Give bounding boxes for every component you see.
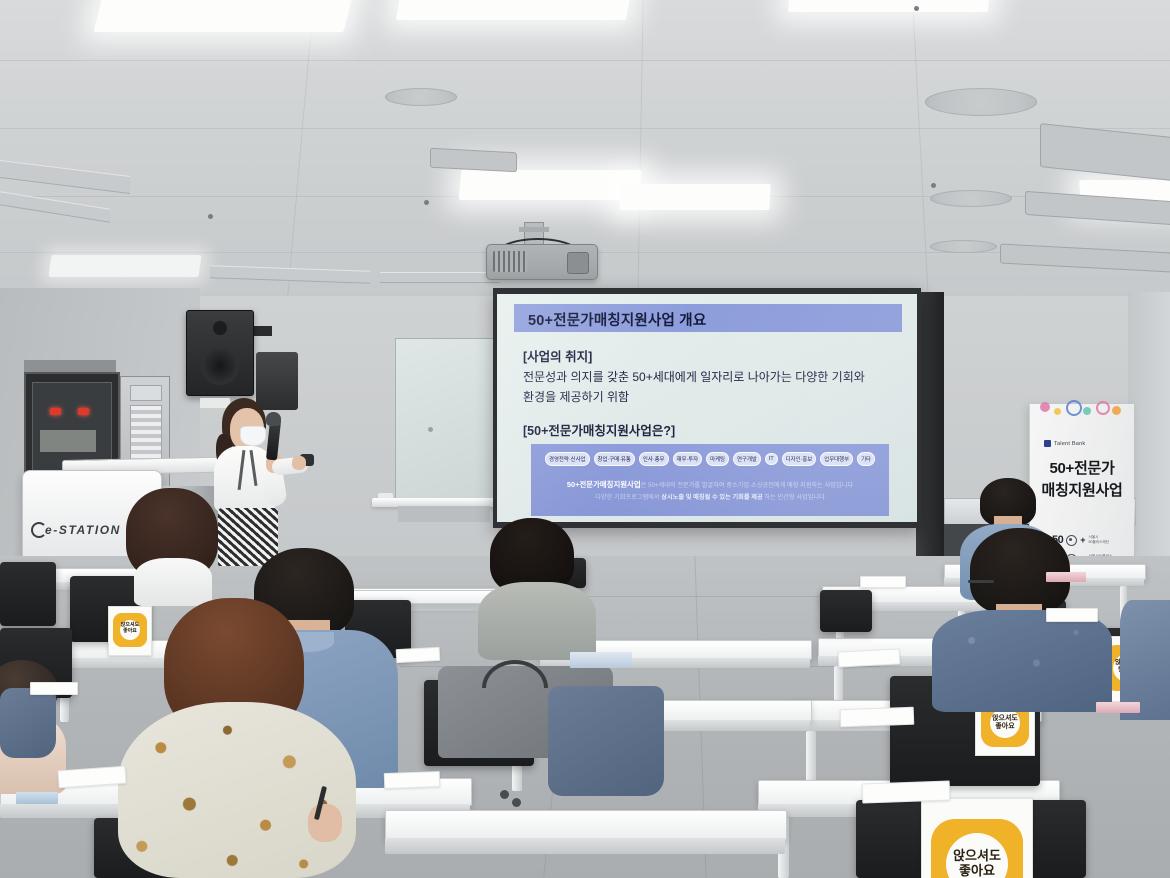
whiteboard-tray-shadow xyxy=(398,506,490,522)
banner-logo-text: Talent Bank xyxy=(1054,441,1085,447)
presentation-slide: 50+전문가매칭지원사업 개요 [사업의 취지] 전문성과 의지를 갖춘 50+… xyxy=(497,294,917,522)
torso xyxy=(478,582,596,660)
chair-sign-line-1: 앉으셔도 xyxy=(953,848,1001,863)
slide-section-1-heading: [사업의 취지] xyxy=(523,346,592,365)
electrical-panel-top xyxy=(24,360,116,372)
ceiling-light-panel xyxy=(459,170,642,200)
speaker-tweeter xyxy=(213,321,227,335)
ceiling-light-panel xyxy=(396,0,634,20)
slide-section-1-line-2: 환경을 제공하기 위함 xyxy=(523,388,903,407)
ceiling-light-panel xyxy=(619,184,770,210)
panel-label xyxy=(40,430,96,452)
power-led xyxy=(50,408,61,415)
chair-sign-text: 앉으셔도 좋아요 xyxy=(922,849,1032,878)
slide-tag: 연구개발 xyxy=(733,452,761,466)
ceiling-diffuser xyxy=(930,190,1012,207)
booklet xyxy=(1046,572,1086,582)
slide-tag: 마케팅 xyxy=(706,452,729,466)
chair-sign: 앉으셔도 좋아요 xyxy=(921,798,1033,878)
desk-caster xyxy=(512,798,521,807)
audience-member xyxy=(112,598,362,878)
slide-tag-row: 경영전략·신사업 창업·구매·유통 인사·총무 재무·투자 마케팅 연구개발 I… xyxy=(539,452,881,466)
desk-caster xyxy=(500,790,509,799)
slide-tag: 재무·투자 xyxy=(673,452,703,466)
ceiling-light-panel xyxy=(788,0,992,12)
ceiling-diffuser xyxy=(930,240,997,253)
slide-note-line-2-pre: 다양한 기회프로그램에서 xyxy=(595,494,659,501)
talent-bank-mark-icon xyxy=(1044,440,1051,447)
booklet xyxy=(16,792,58,804)
chair-sign-line-1: 앉으셔도 xyxy=(992,715,1018,722)
papers xyxy=(396,647,441,663)
chair-sign-line-2: 좋아요 xyxy=(995,723,1014,730)
papers xyxy=(862,780,951,803)
booklet xyxy=(570,652,632,668)
hand xyxy=(308,804,342,842)
slide-tag: 기타 xyxy=(857,452,875,466)
slide-tag-box: 경영전략·신사업 창업·구매·유통 인사·총무 재무·투자 마케팅 연구개발 I… xyxy=(531,444,889,516)
ceiling-diffuser xyxy=(925,88,1037,116)
papers xyxy=(840,707,915,728)
desk-edge xyxy=(385,838,785,854)
papers xyxy=(30,682,78,695)
papers xyxy=(384,771,441,789)
slide-tag: 업무대행부 xyxy=(820,452,853,466)
breaker-display xyxy=(130,385,162,401)
ceiling-air-vent xyxy=(1000,243,1170,272)
banner-decoration xyxy=(1036,398,1128,428)
folded-jacket xyxy=(0,688,56,758)
slide-note-bold: 50+전문가매칭지원사업 xyxy=(567,480,641,489)
whiteboard xyxy=(395,338,502,500)
ceiling-air-vent xyxy=(1040,123,1170,181)
papers xyxy=(838,648,901,667)
whiteboard-knob xyxy=(428,427,433,432)
slide-note-highlight: 상시노출 및 매칭될 수 있는 기회를 제공 xyxy=(661,494,762,501)
chair[interactable] xyxy=(820,590,872,632)
torso xyxy=(932,610,1112,712)
folded-jacket xyxy=(548,686,664,796)
slide-note-line-1: 은 50+세대의 전문가를 발굴하여 중소기업·소상공인에게 매칭 지원하는 사… xyxy=(641,482,853,489)
slide-note: 50+전문가매칭지원사업은 50+세대의 전문가를 발굴하여 중소기업·소상공인… xyxy=(541,478,879,504)
slide-tag: 경영전략·신사업 xyxy=(545,452,590,466)
sprinkler-head xyxy=(208,214,213,219)
ceiling-light-panel xyxy=(48,255,201,277)
papers xyxy=(1046,608,1098,622)
chair-sign-text: 앉으셔도 좋아요 xyxy=(976,715,1034,731)
chair-sign-line-2: 좋아요 xyxy=(959,863,995,878)
power-led xyxy=(78,408,89,415)
microphone-head xyxy=(266,412,281,426)
sprinkler-head xyxy=(931,183,936,188)
face-mask xyxy=(240,426,266,446)
slide-tag: IT xyxy=(765,453,778,465)
speaker-woofer xyxy=(201,347,239,385)
banner-title-line-1: 50+전문가 xyxy=(1030,458,1134,480)
projector-lens xyxy=(567,252,589,274)
booklet xyxy=(1096,702,1140,713)
ceiling-light-panel xyxy=(94,0,357,32)
ceiling-diffuser xyxy=(385,88,457,106)
projector-vent xyxy=(493,251,527,272)
audience-member xyxy=(478,518,598,658)
hair xyxy=(970,528,1070,614)
slide-tag: 디자인·홍보 xyxy=(782,452,817,466)
slide-note-line-2-post: 하는 민간형 사업입니다 xyxy=(764,494,824,501)
slide-title-bar: 50+전문가매칭지원사업 개요 xyxy=(514,304,902,332)
slide-title: 50+전문가매칭지원사업 개요 xyxy=(528,309,706,330)
presenter-hand-left xyxy=(292,456,306,470)
projector-icon xyxy=(486,244,598,280)
chair[interactable] xyxy=(0,562,56,626)
wall-speaker xyxy=(186,310,254,396)
papers xyxy=(860,576,906,588)
sprinkler-head xyxy=(424,200,429,205)
audience-member xyxy=(120,488,230,598)
seminar-room-photo: e-STATION 50+전문가매칭지원사업 개요 [사업의 취지] 전문성과 … xyxy=(0,0,1170,878)
desk xyxy=(385,810,787,840)
glasses-arm-icon xyxy=(968,580,994,583)
slide-tag: 창업·구매·유통 xyxy=(594,452,635,466)
right-wall xyxy=(1128,292,1170,592)
ceiling-air-vent xyxy=(430,148,517,173)
slide-tag: 인사·총무 xyxy=(639,452,669,466)
av-cabinet-label: e-STATION xyxy=(45,523,121,537)
projection-screen: 50+전문가매칭지원사업 개요 [사업의 취지] 전문성과 의지를 갖춘 50+… xyxy=(493,288,921,528)
banner-logo: Talent Bank xyxy=(1044,440,1085,447)
slide-section-1-line-1: 전문성과 의지를 갖춘 50+세대에게 일자리로 나아가는 다양한 기회와 xyxy=(523,368,903,387)
slide-section-2-heading: [50+전문가매칭지원사업은?] xyxy=(523,420,675,439)
sprinkler-head xyxy=(914,6,919,11)
